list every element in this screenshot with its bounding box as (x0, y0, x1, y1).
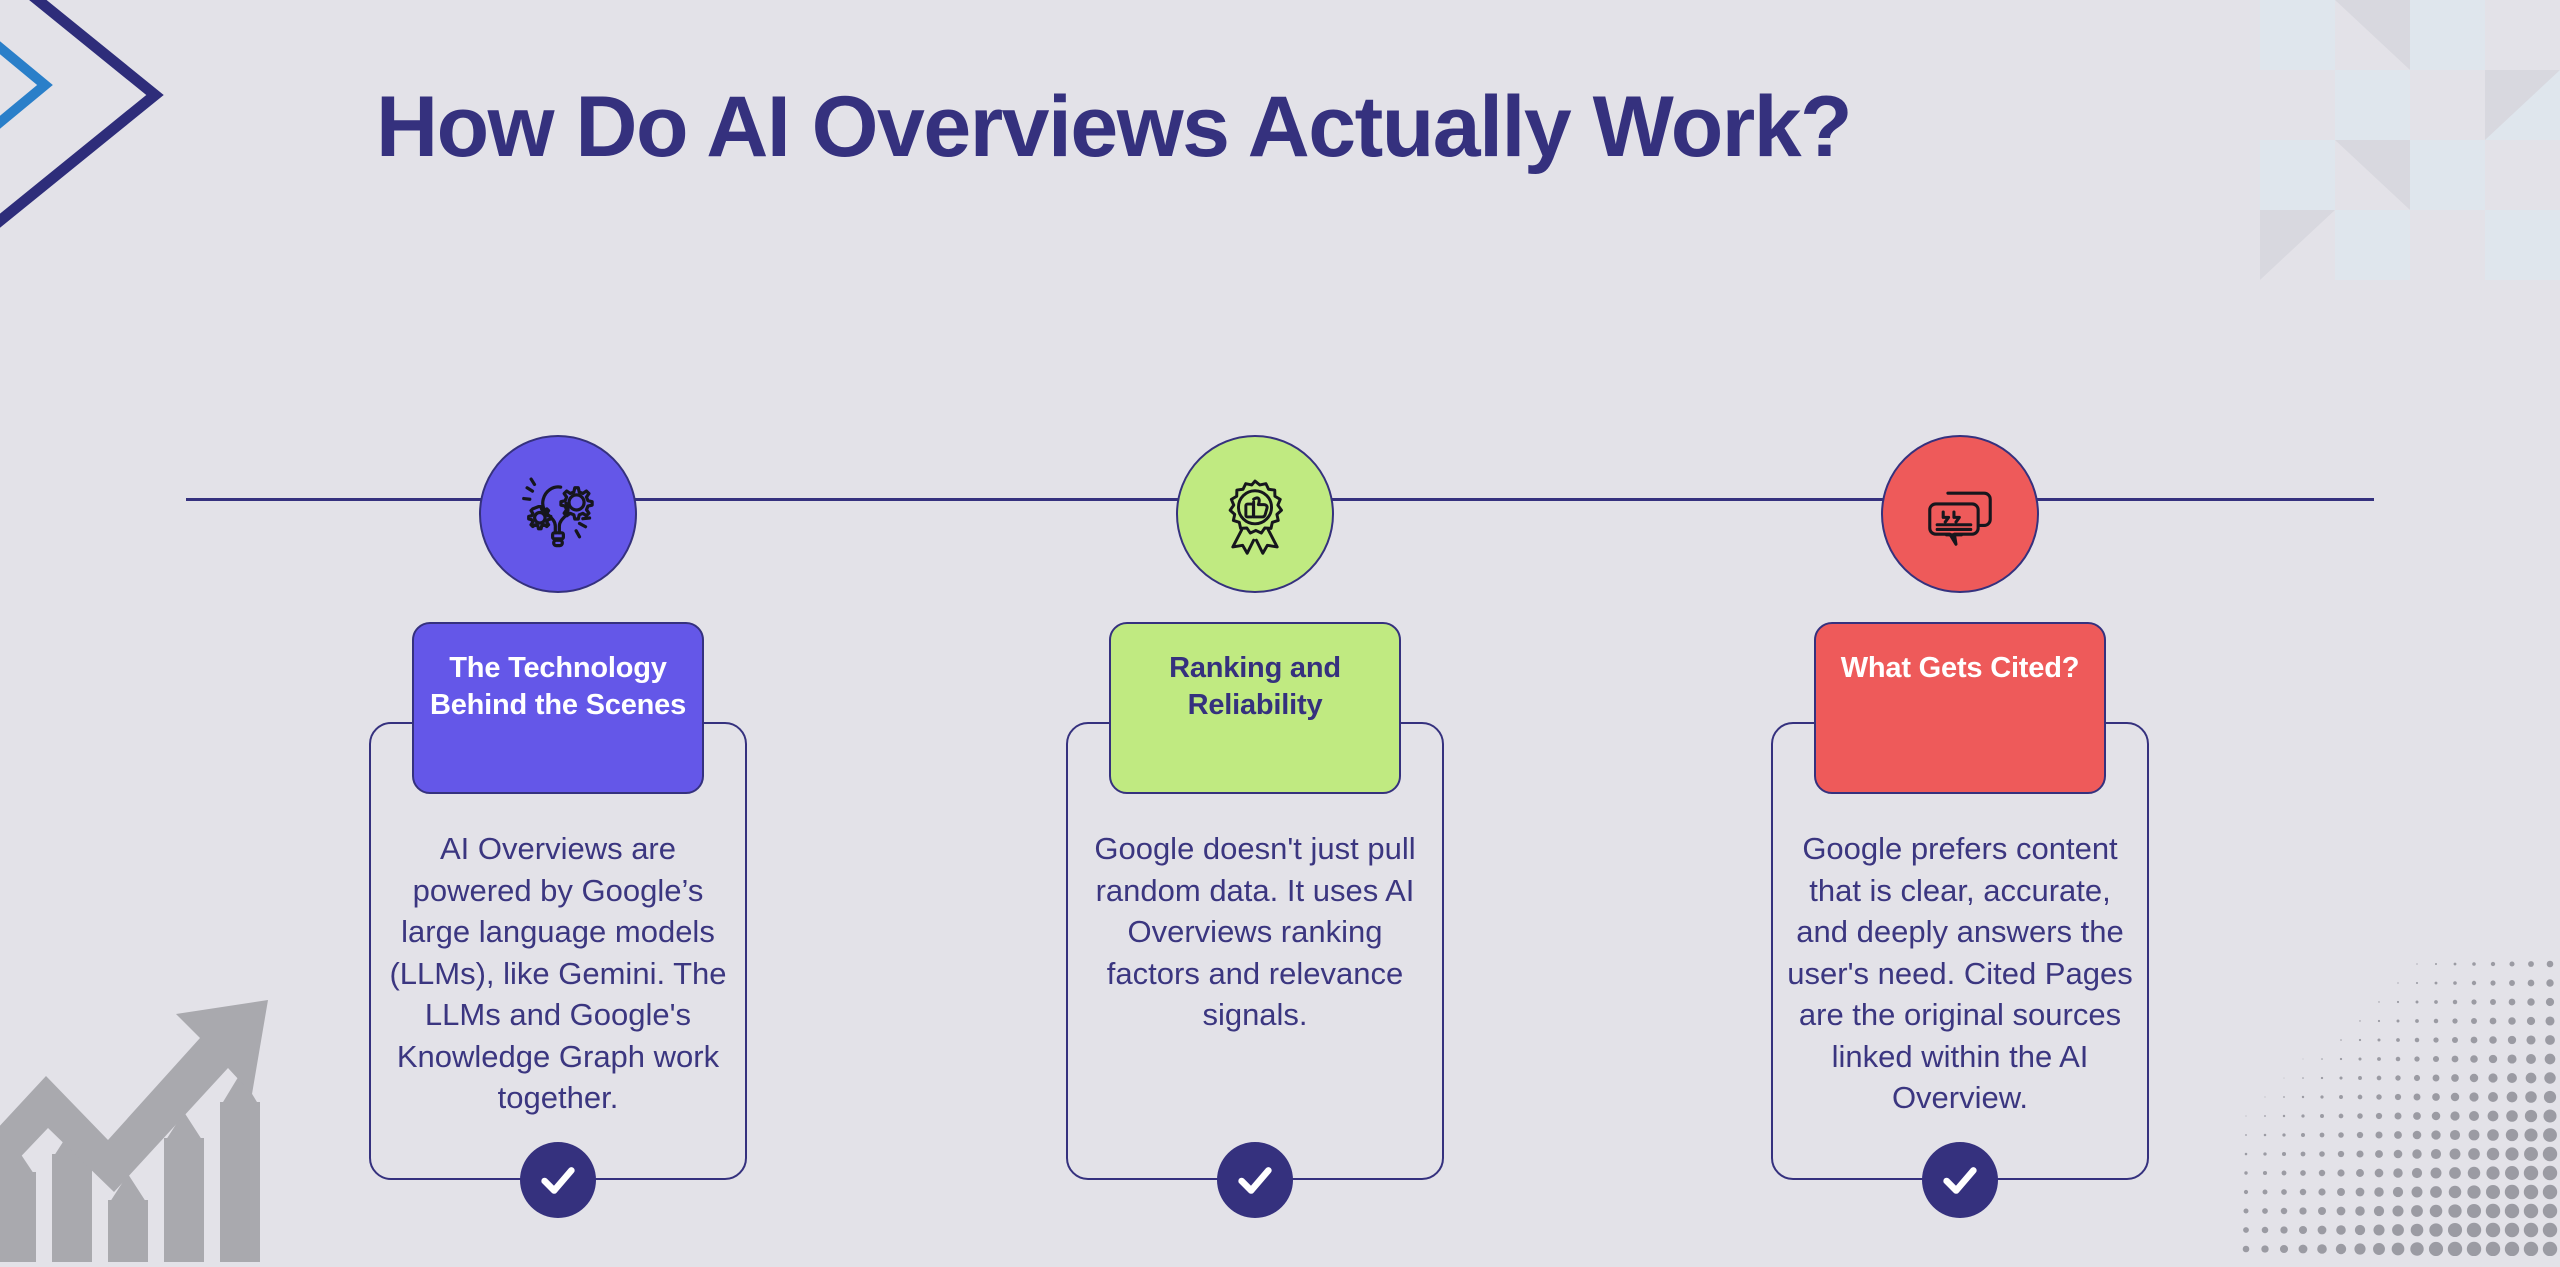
step-header-card-1: The Technology Behind the Scenes (412, 622, 704, 794)
check-icon (1232, 1157, 1278, 1203)
step-title-2: Ranking and Reliability (1111, 650, 1399, 724)
step-check-badge-1 (520, 1142, 596, 1218)
step-check-badge-2 (1217, 1142, 1293, 1218)
step-body-2: Google doesn't just pull random data. It… (1080, 828, 1430, 1036)
step-title-3: What Gets Cited? (1831, 650, 2089, 687)
step-body-1: AI Overviews are powered by Google’s lar… (383, 828, 733, 1119)
infographic-canvas: How Do AI Overviews Actually Work? (0, 0, 2560, 1256)
step-icon-circle-1[interactable] (479, 435, 637, 593)
step-body-3: Google prefers content that is clear, ac… (1785, 828, 2135, 1119)
step-check-badge-3 (1922, 1142, 1998, 1218)
step-title-1: The Technology Behind the Scenes (414, 650, 702, 724)
step-icon-circle-3[interactable] (1881, 435, 2039, 593)
step-icon-circle-2[interactable] (1176, 435, 1334, 593)
lightbulb-gears-icon (515, 471, 601, 557)
step-header-card-2: Ranking and Reliability (1109, 622, 1401, 794)
thumbs-up-ribbon-icon (1212, 471, 1298, 557)
steps-container: The Technology Behind the Scenes AI Over… (0, 0, 2560, 1256)
step-header-card-3: What Gets Cited? (1814, 622, 2106, 794)
check-icon (1937, 1157, 1983, 1203)
check-icon (535, 1157, 581, 1203)
quote-speech-bubble-icon (1917, 471, 2003, 557)
